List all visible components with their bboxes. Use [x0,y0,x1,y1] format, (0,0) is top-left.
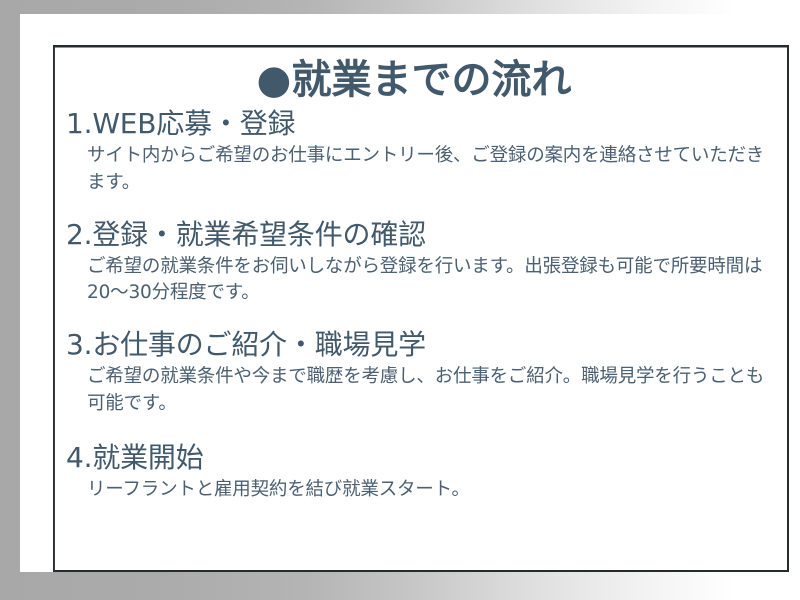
step-item-3: 3.お仕事のご紹介・職場見学 ご希望の就業条件や今まで職歴を考慮し、お仕事をご紹… [61,327,785,418]
step-body-4: リーフラントと雇用契約を結び就業スタート。 [61,477,785,504]
poster-card: ●就業までの流れ 1.WEB応募・登録 サイト内からご希望のお仕事にエントリー後… [20,14,800,572]
poster-stage: ●就業までの流れ 1.WEB応募・登録 サイト内からご希望のお仕事にエントリー後… [0,0,800,600]
step-body-3: ご希望の就業条件や今まで職歴を考慮し、お仕事をご紹介。職場見学を行うことも可能で… [61,364,785,418]
step-body-1: サイト内からご希望のお仕事にエントリー後、ご登録の案内を連絡させていただきます。 [61,143,785,197]
step-item-1: 1.WEB応募・登録 サイト内からご希望のお仕事にエントリー後、ご登録の案内を連… [61,106,785,197]
step-heading-3: 3.お仕事のご紹介・職場見学 [61,327,785,364]
step-heading-4: 4.就業開始 [61,440,785,477]
step-body-2: ご希望の就業条件をお伺いしながら登録を行います。出張登録も可能で所要時間は20〜… [61,254,785,308]
step-heading-2: 2.登録・就業希望条件の確認 [61,217,785,254]
page-title: ●就業までの流れ [61,60,785,100]
step-item-4: 4.就業開始 リーフラントと雇用契約を結び就業スタート。 [61,440,785,504]
step-item-2: 2.登録・就業希望条件の確認 ご希望の就業条件をお伺いしながら登録を行います。出… [61,217,785,308]
poster-content: ●就業までの流れ 1.WEB応募・登録 サイト内からご希望のお仕事にエントリー後… [61,50,785,566]
step-heading-1: 1.WEB応募・登録 [61,106,785,143]
